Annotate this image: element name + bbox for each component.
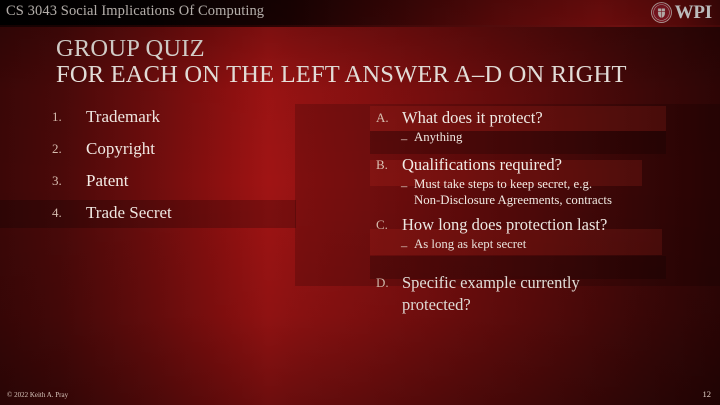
page-number: 12 (703, 389, 712, 399)
list-item-number: 4. (52, 202, 86, 224)
spacer (376, 261, 676, 272)
question-row: C. How long does protection last? (376, 214, 676, 236)
question-letter: D. (376, 272, 402, 294)
list-item-copyright: 2. Copyright (52, 138, 292, 170)
answer-text: Anything (414, 130, 462, 146)
wpi-logo: WPI (651, 2, 712, 23)
copyright-notice: © 2022 Keith A. Pray (7, 391, 68, 399)
bullet-dash-icon: – (401, 237, 414, 255)
question-row: A. What does it protect? (376, 107, 676, 129)
question-text: How long does protection last? (402, 214, 607, 236)
list-item-label: Copyright (86, 138, 155, 160)
question-item-a: A. What does it protect? – Anything (376, 107, 676, 148)
left-terms-list: 1. Trademark 2. Copyright 3. Patent 4. T… (52, 106, 292, 234)
list-item-label: Trademark (86, 106, 160, 128)
list-item-number: 1. (52, 106, 86, 128)
question-row: D. Specific example currently protected? (376, 272, 676, 316)
bullet-dash-icon: – (401, 130, 414, 148)
list-item-number: 3. (52, 170, 86, 192)
answer-text: Must take steps to keep secret, e.g. Non… (414, 177, 612, 208)
question-item-c: C. How long does protection last? – As l… (376, 214, 676, 255)
bullet-dash-icon: – (401, 177, 414, 195)
slide-title-line-2: FOR EACH ON THE LEFT ANSWER A–D ON RIGHT (56, 62, 686, 88)
list-item-trade-secret: 4. Trade Secret (52, 202, 292, 234)
answer-row: – Must take steps to keep secret, e.g. N… (376, 177, 676, 208)
question-text: What does it protect? (402, 107, 543, 129)
question-text-line-1: Specific example currently (402, 273, 580, 292)
list-item-number: 2. (52, 138, 86, 160)
header-bar-edge (0, 25, 720, 27)
wpi-wordmark: WPI (675, 2, 712, 23)
question-text: Qualifications required? (402, 154, 562, 176)
question-letter: B. (376, 154, 402, 176)
slide-title-line-1: GROUP QUIZ (56, 36, 686, 62)
answer-text-line-1: Must take steps to keep secret, e.g. (414, 177, 592, 191)
question-row: B. Qualifications required? (376, 154, 676, 176)
slide-canvas: CS 3043 Social Implications Of Computing… (0, 0, 720, 405)
course-title: CS 3043 Social Implications Of Computing (6, 3, 264, 20)
question-letter: A. (376, 107, 402, 129)
answer-text: As long as kept secret (414, 237, 526, 253)
question-text: Specific example currently protected? (402, 272, 580, 316)
question-item-d: D. Specific example currently protected? (376, 272, 676, 316)
question-item-b: B. Qualifications required? – Must take … (376, 154, 676, 208)
question-text-line-2: protected? (402, 295, 471, 314)
answer-row: – As long as kept secret (376, 237, 676, 255)
question-letter: C. (376, 214, 402, 236)
answer-row: – Anything (376, 130, 676, 148)
list-item-trademark: 1. Trademark (52, 106, 292, 138)
list-item-label: Patent (86, 170, 129, 192)
list-item-patent: 3. Patent (52, 170, 292, 202)
wpi-seal-icon (651, 2, 672, 23)
slide-title: GROUP QUIZ FOR EACH ON THE LEFT ANSWER A… (56, 36, 686, 87)
right-questions-list: A. What does it protect? – Anything B. Q… (376, 107, 676, 317)
answer-text-line-2: Non-Disclosure Agreements, contracts (414, 193, 612, 207)
list-item-label: Trade Secret (86, 202, 172, 224)
